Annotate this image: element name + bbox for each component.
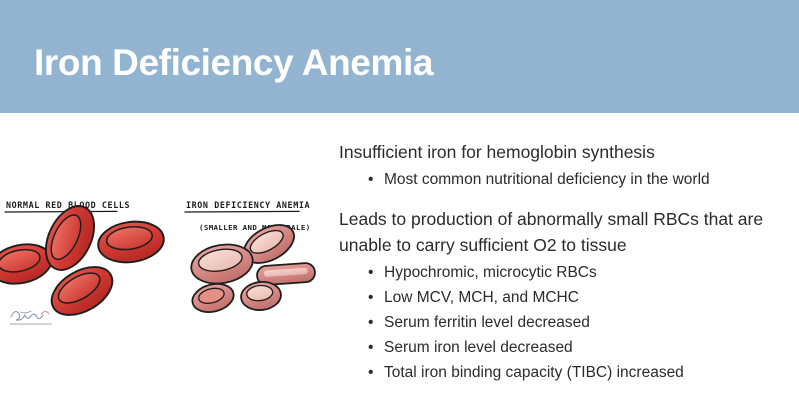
bullet-dot-icon: • bbox=[368, 285, 373, 310]
list-item-label: Hypochromic, microcytic RBCs bbox=[384, 264, 597, 281]
content-body: Insufficient iron for hemoglobin synthes… bbox=[339, 139, 791, 391]
list-item-label: Low MCV, MCH, and MCHC bbox=[384, 289, 579, 306]
slide: Iron Deficiency Anemia bbox=[0, 0, 799, 417]
rbc-comparison-figure: NORMAL RED BLOOD CELLS IRON DEFICIENCY A… bbox=[0, 186, 326, 368]
block-spacer bbox=[339, 198, 791, 206]
svg-text:(SMALLER AND MORE PALE): (SMALLER AND MORE PALE) bbox=[199, 223, 311, 232]
bullet-dot-icon: • bbox=[368, 260, 373, 285]
page-title: Iron Deficiency Anemia bbox=[34, 40, 433, 85]
lead-paragraph-2: Leads to production of abnormally small … bbox=[339, 206, 791, 258]
svg-text:IRON DEFICIENCY ANEMIA: IRON DEFICIENCY ANEMIA bbox=[186, 200, 310, 210]
lead-paragraph-1: Insufficient iron for hemoglobin synthes… bbox=[339, 139, 791, 165]
list-item: • Most common nutritional deficiency in … bbox=[339, 167, 791, 192]
list-item: • Hypochromic, microcytic RBCs bbox=[339, 260, 791, 285]
list-item-label: Total iron binding capacity (TIBC) incre… bbox=[384, 364, 684, 381]
list-item: • Low MCV, MCH, and MCHC bbox=[339, 285, 791, 310]
bullet-list-1: • Most common nutritional deficiency in … bbox=[339, 167, 791, 192]
list-item-label: Serum iron level decreased bbox=[384, 339, 573, 356]
bullet-dot-icon: • bbox=[368, 310, 373, 335]
list-item: • Serum ferritin level decreased bbox=[339, 310, 791, 335]
list-item: • Serum iron level decreased bbox=[339, 335, 791, 360]
bullet-dot-icon: • bbox=[368, 360, 373, 385]
list-item: • Total iron binding capacity (TIBC) inc… bbox=[339, 360, 791, 385]
bullet-list-2: • Hypochromic, microcytic RBCs • Low MCV… bbox=[339, 260, 791, 385]
slide-header-banner: Iron Deficiency Anemia bbox=[0, 0, 799, 113]
bullet-dot-icon: • bbox=[368, 335, 373, 360]
bullet-dot-icon: • bbox=[368, 167, 373, 192]
list-item-label: Most common nutritional deficiency in th… bbox=[384, 171, 710, 188]
list-item-label: Serum ferritin level decreased bbox=[384, 314, 590, 331]
rbc-illustration-svg: NORMAL RED BLOOD CELLS IRON DEFICIENCY A… bbox=[0, 186, 326, 368]
